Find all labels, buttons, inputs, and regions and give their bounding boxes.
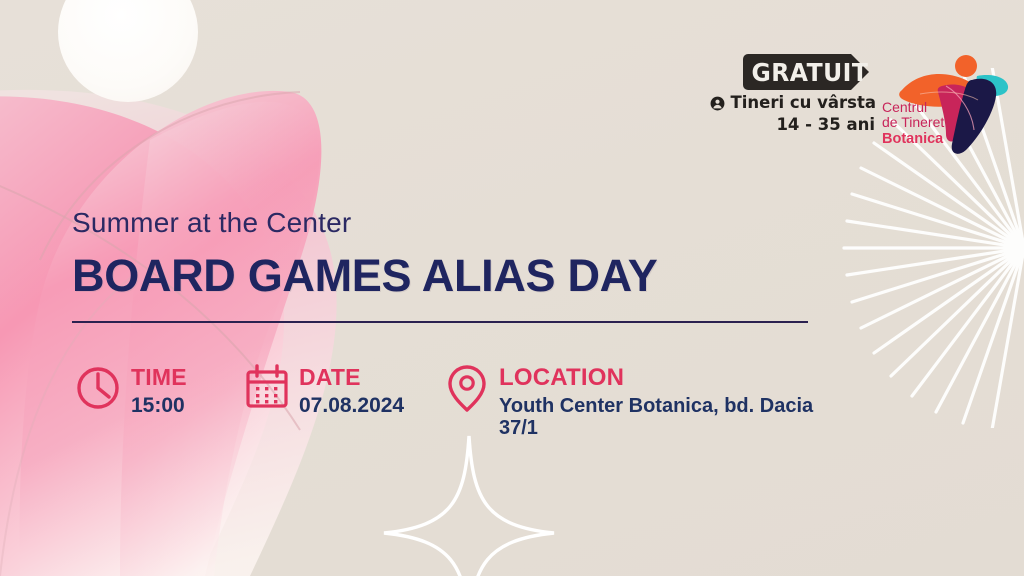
free-badge-group: GRATUIT Tineri cu vârsta 14 - 35 ani (710, 54, 876, 135)
age-text-2: 14 - 35 ani (776, 116, 875, 134)
centrul-de-tineret-botanica-logo: Centrul de Tineret Botanica (880, 50, 1016, 158)
person-icon (710, 96, 725, 111)
logo-head-icon (955, 55, 977, 77)
calendar-icon (244, 363, 290, 413)
eyebrow-text: Summer at the Center (72, 208, 832, 239)
date-value: 07.08.2024 (299, 394, 404, 418)
sparkle-decoration (382, 430, 557, 576)
event-poster: GRATUIT Tineri cu vârsta 14 - 35 ani C (0, 0, 1024, 576)
location-value: Youth Center Botanica, bd. Dacia 37/1 (499, 395, 824, 440)
detail-time: TIME 15:00 (76, 360, 244, 418)
location-label: LOCATION (499, 366, 824, 390)
logo-line-3: Botanica (882, 131, 944, 147)
map-pin-icon (444, 363, 490, 413)
event-details-row: TIME 15:00 (76, 360, 824, 440)
gratuit-label: GRATUIT (743, 60, 868, 85)
logo-line-1: Centrul (882, 99, 927, 115)
date-label: DATE (299, 366, 404, 389)
age-text-1: Tineri cu vârsta (730, 94, 876, 112)
circle-decoration (58, 0, 198, 102)
clock-icon (76, 363, 122, 413)
age-line-2: 14 - 35 ani (776, 116, 876, 134)
time-value: 15:00 (131, 394, 187, 418)
detail-date: DATE 07.08.2024 (244, 360, 444, 418)
time-label: TIME (131, 366, 187, 389)
logo-line-2: de Tineret (882, 114, 944, 130)
age-line-1: Tineri cu vârsta (710, 94, 876, 112)
divider (72, 321, 808, 323)
detail-location: LOCATION Youth Center Botanica, bd. Daci… (444, 360, 824, 440)
gratuit-badge: GRATUIT (743, 54, 876, 90)
page-title: BOARD GAMES ALIAS DAY (72, 252, 832, 301)
title-block: Summer at the Center BOARD GAMES ALIAS D… (72, 208, 832, 323)
